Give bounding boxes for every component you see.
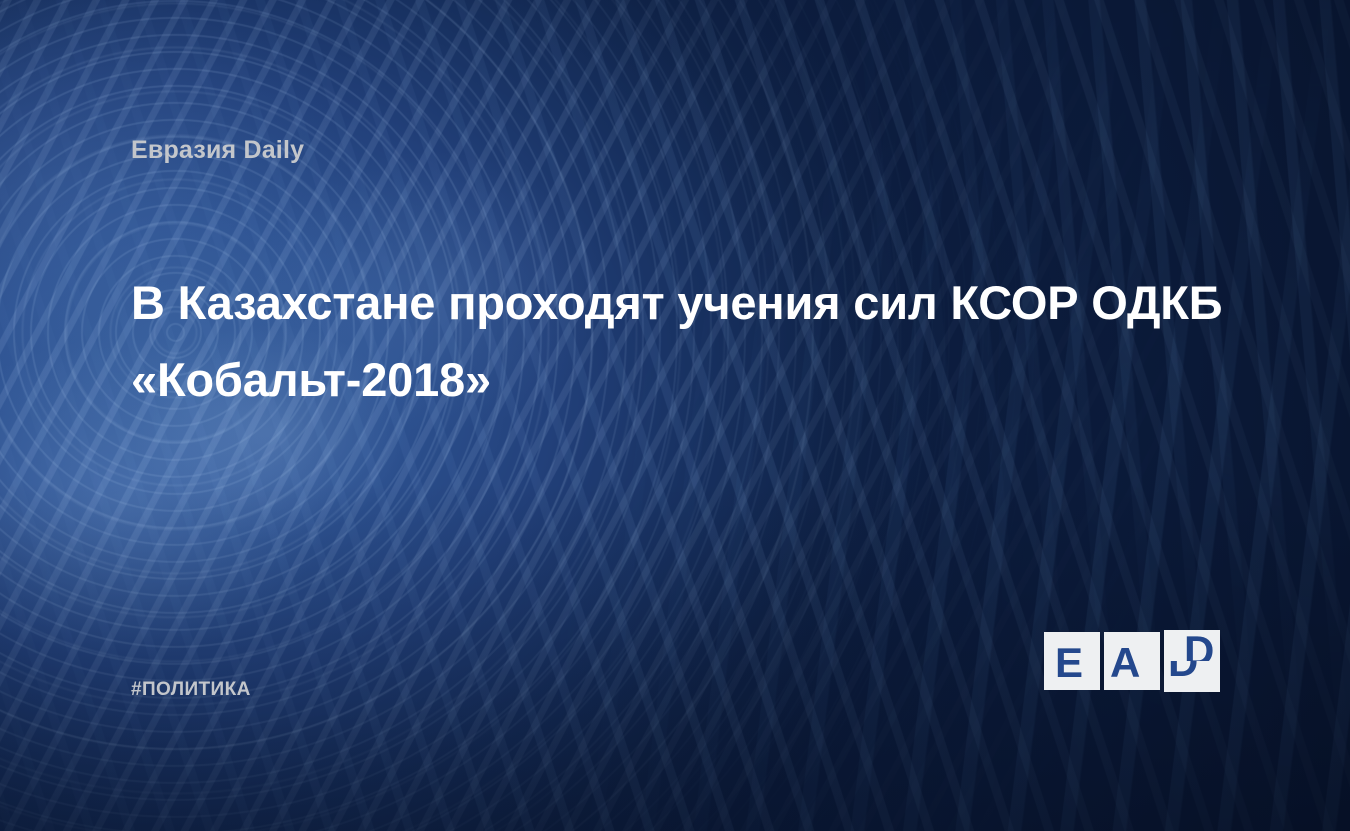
site-name: Евразия Daily: [131, 136, 304, 165]
logo-letter-d-top-half: D: [1184, 628, 1226, 661]
page-title: В Казахстане проходят учения сил КСОР ОД…: [131, 264, 1261, 418]
logo-letter-e: E: [1055, 642, 1083, 684]
logo-letter-d-bottom-half: D: [1168, 661, 1226, 694]
ead-logo: E A D D: [1044, 630, 1222, 692]
card-content: Евразия Daily В Казахстане проходят учен…: [0, 0, 1350, 831]
logo-letter-d-bottom-glyph: D: [1168, 661, 1198, 683]
logo-letter-d-top-glyph: D: [1184, 630, 1214, 661]
article-share-card: Евразия Daily В Казахстане проходят учен…: [0, 0, 1350, 831]
logo-letter-a: A: [1110, 642, 1140, 684]
category-hashtag: #ПОЛИТИКА: [131, 679, 251, 701]
